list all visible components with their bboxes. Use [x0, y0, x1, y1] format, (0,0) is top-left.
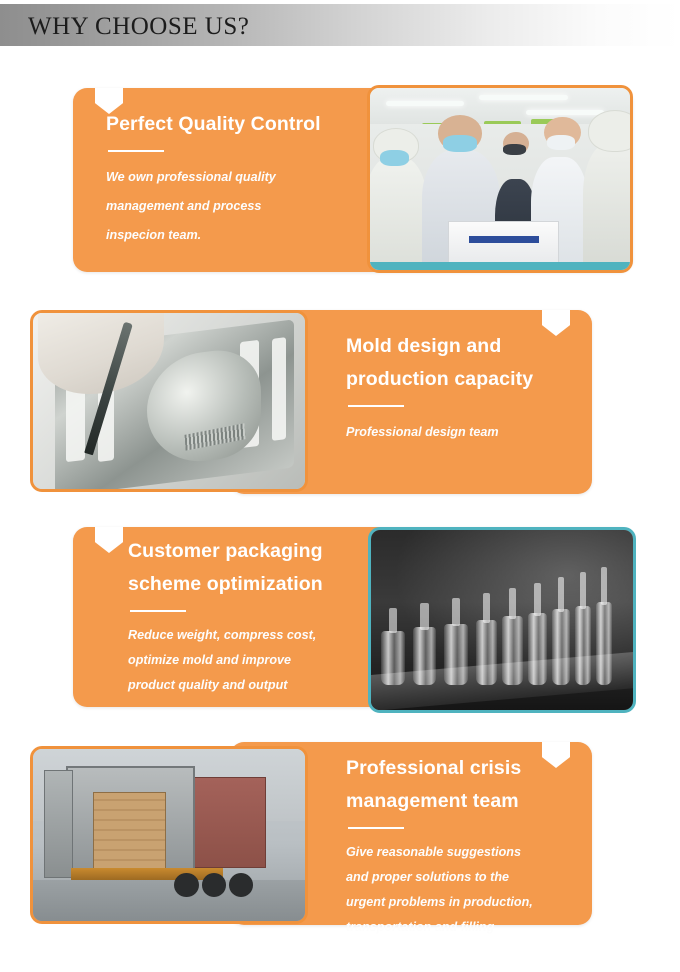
card-3-title-rule: [130, 610, 186, 612]
card-2-title-line-2: production capacity: [346, 363, 586, 396]
card-2-body-line-1: Professional design team: [346, 418, 586, 447]
card-3-notch-arrow-icon: [95, 527, 123, 553]
card-3-text-block: Customer packaging scheme optimization R…: [128, 535, 364, 698]
card-1-body-line-2: management and process: [106, 192, 356, 221]
card-4-text-block: Professional crisis management team Give…: [346, 752, 598, 940]
cleanroom-inspection-photo: [367, 85, 633, 273]
card-4-body-line-3: urgent problems in production,: [346, 890, 598, 915]
card-4-body-line-2: and proper solutions to the: [346, 865, 598, 890]
card-2-title-line-1: Mold design and: [346, 330, 586, 363]
card-3-title-line-1: Customer packaging: [128, 535, 364, 568]
card-2-text-block: Mold design and production capacity Prof…: [346, 330, 586, 447]
card-1-body-line-1: We own professional quality: [106, 163, 356, 192]
bottle-conveyor-photo: [368, 527, 636, 713]
card-3-body-line-2: optimize mold and improve: [128, 648, 364, 673]
card-4-body-line-4: transportation and filling: [346, 915, 598, 940]
card-2-title-rule: [348, 405, 404, 407]
page-title: WHY CHOOSE US?: [28, 13, 249, 41]
container-loading-photo: [30, 746, 308, 924]
card-4-title-line-2: management team: [346, 785, 598, 818]
card-3-title-line-2: scheme optimization: [128, 568, 364, 601]
mold-machining-photo: [30, 310, 308, 492]
card-1-text-block: Perfect Quality Control We own professio…: [106, 108, 356, 250]
card-3-body-line-1: Reduce weight, compress cost,: [128, 623, 364, 648]
card-3-body-line-3: product quality and output: [128, 673, 364, 698]
page-header-bar: WHY CHOOSE US?: [0, 4, 680, 46]
card-1-title-line-1: Perfect Quality Control: [106, 108, 356, 141]
card-1-body-line-3: inspecion team.: [106, 221, 356, 250]
card-1-title-rule: [108, 150, 164, 152]
card-4-body-line-1: Give reasonable suggestions: [346, 840, 598, 865]
card-4-title-line-1: Professional crisis: [346, 752, 598, 785]
card-4-title-rule: [348, 827, 404, 829]
